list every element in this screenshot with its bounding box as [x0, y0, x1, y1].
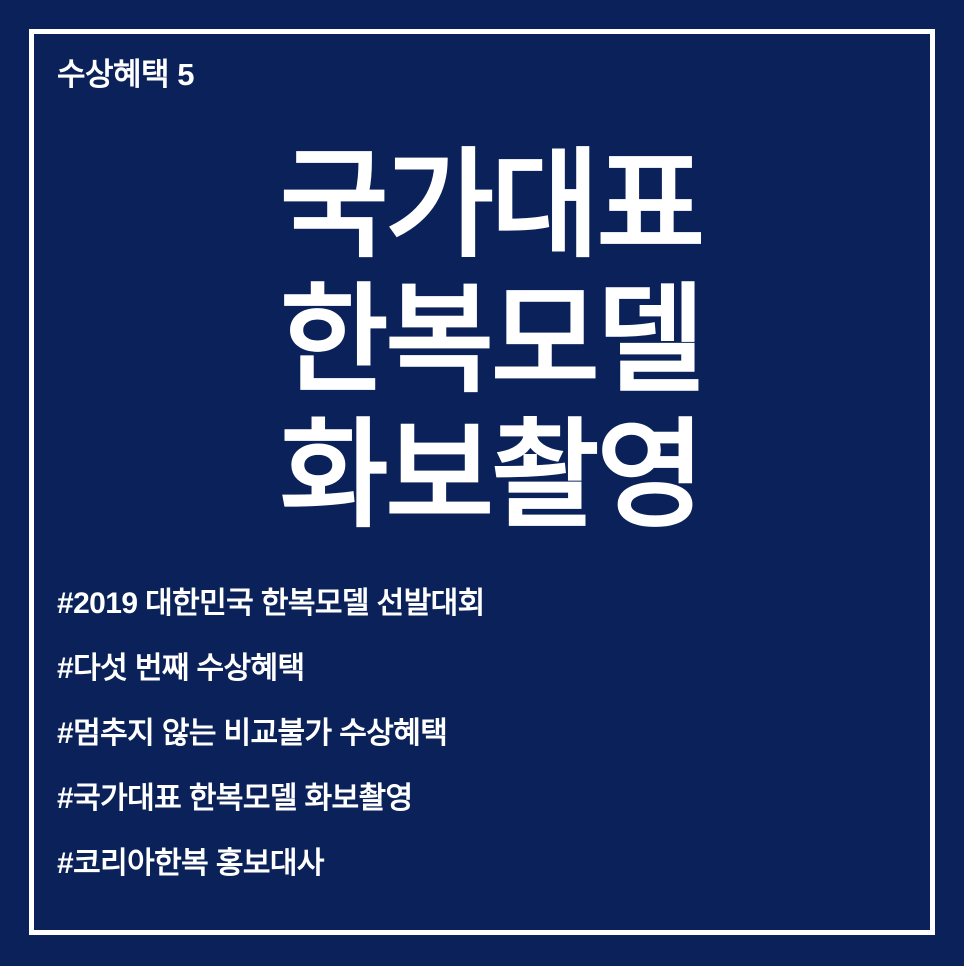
headline-line-3: 화보촬영	[29, 409, 935, 544]
poster-content: 수상혜택 5 국가대표 한복모델 화보촬영 #2019 대한민국 한복모델 선발…	[29, 29, 935, 935]
headline-block: 국가대표 한복모델 화보촬영	[29, 139, 935, 544]
hashtag-item: #코리아한복 홍보대사	[57, 849, 907, 879]
hashtag-item: #2019 대한민국 한복모델 선발대회	[57, 589, 907, 619]
hashtag-item: #국가대표 한복모델 화보촬영	[57, 784, 907, 814]
eyebrow-label: 수상혜택 5	[57, 58, 194, 92]
headline-line-2: 한복모델	[29, 274, 935, 409]
hashtag-list: #2019 대한민국 한복모델 선발대회 #다섯 번째 수상혜택 #멈추지 않는…	[57, 589, 907, 879]
hashtag-item: #멈추지 않는 비교불가 수상혜택	[57, 719, 907, 749]
poster-card: 수상혜택 5 국가대표 한복모델 화보촬영 #2019 대한민국 한복모델 선발…	[0, 0, 964, 966]
hashtag-item: #다섯 번째 수상혜택	[57, 654, 907, 684]
headline-line-1: 국가대표	[29, 139, 935, 274]
